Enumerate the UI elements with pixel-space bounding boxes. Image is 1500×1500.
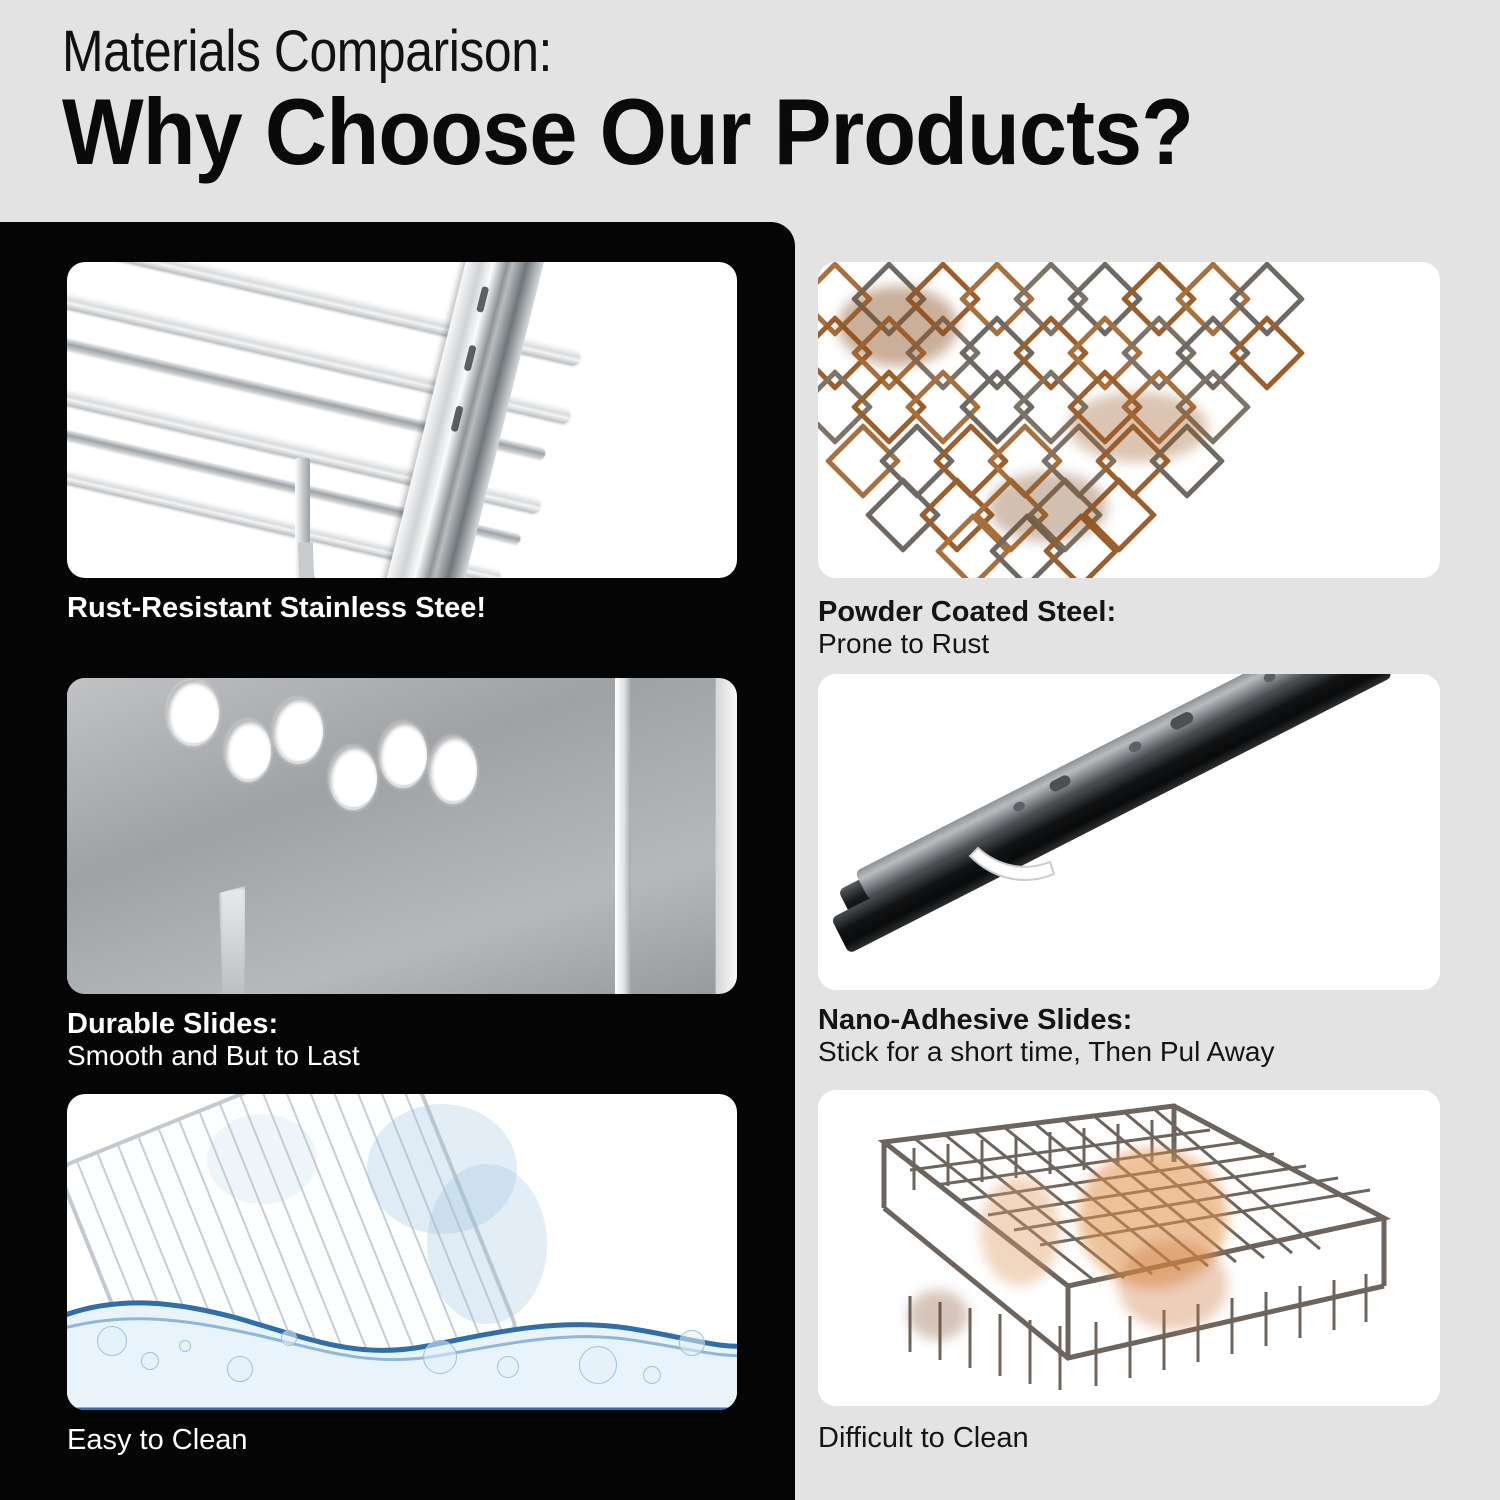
perforated-plate-illustration [67,678,737,994]
con-caption-1: Powder Coated Steel: Prone to Rust [818,596,1116,661]
con-feature-card-1[interactable]: Powder Coated Steel: Prone to Rust [818,262,1440,578]
page-header: Materials Comparison: Why Choose Our Pro… [0,0,1500,222]
difficult-to-clean-basket-photo [818,1090,1440,1406]
con-caption-2: Nano-Adhesive Slides: Stick for a short … [818,1004,1275,1069]
pro-feature-card-2[interactable]: Durable Slides: Smooth and But to Last [67,678,737,994]
adhesive-peel-tab-icon [818,674,1440,990]
pro-caption-3-head: Easy to Clean [67,1424,248,1456]
pro-caption-1-head: Rust-Resistant Stainless Stee! [67,592,486,624]
pro-feature-card-1[interactable]: Rust-Resistant Stainless Stee! [67,262,737,578]
stainless-steel-rack-photo [67,262,737,578]
durable-slide-plate-photo [67,678,737,994]
pro-caption-2-head: Durable Slides: [67,1008,360,1040]
con-caption-3-head: Difficult to Clean [818,1422,1029,1454]
page-subtitle: Materials Comparison: [62,18,552,85]
pro-caption-1: Rust-Resistant Stainless Stee! [67,592,486,624]
rusty-basket-illustration [818,1090,1440,1406]
nano-adhesive-slide-photo [818,674,1440,990]
con-feature-card-2[interactable]: Nano-Adhesive Slides: Stick for a short … [818,674,1440,990]
con-feature-card-3[interactable]: Difficult to Clean [818,1090,1440,1406]
basket-in-water-illustration [67,1094,737,1410]
con-caption-1-head: Powder Coated Steel: [818,596,1116,628]
pro-column-panel: Rust-Resistant Stainless Stee! Durable S… [0,222,795,1500]
con-caption-2-head: Nano-Adhesive Slides: [818,1004,1275,1036]
water-wave-icon [67,1260,737,1410]
page-title: Why Choose Our Products? [62,78,1193,186]
pro-caption-2-sub: Smooth and But to Last [67,1040,360,1072]
easy-to-clean-water-photo [67,1094,737,1410]
pro-caption-3: Easy to Clean [67,1424,248,1456]
pro-caption-2: Durable Slides: Smooth and But to Last [67,1008,360,1073]
stainless-rack-illustration [67,262,737,578]
con-caption-2-sub: Stick for a short time, Then Pul Away [818,1036,1275,1068]
pro-feature-card-3[interactable]: Easy to Clean [67,1094,737,1410]
rusted-mesh-basket-photo [818,262,1440,578]
rusted-mesh-illustration [818,262,1440,578]
drawer-slide-illustration [818,674,1440,990]
con-column-panel: Powder Coated Steel: Prone to Rust [795,222,1500,1500]
con-caption-3: Difficult to Clean [818,1422,1029,1454]
con-caption-1-sub: Prone to Rust [818,628,1116,660]
